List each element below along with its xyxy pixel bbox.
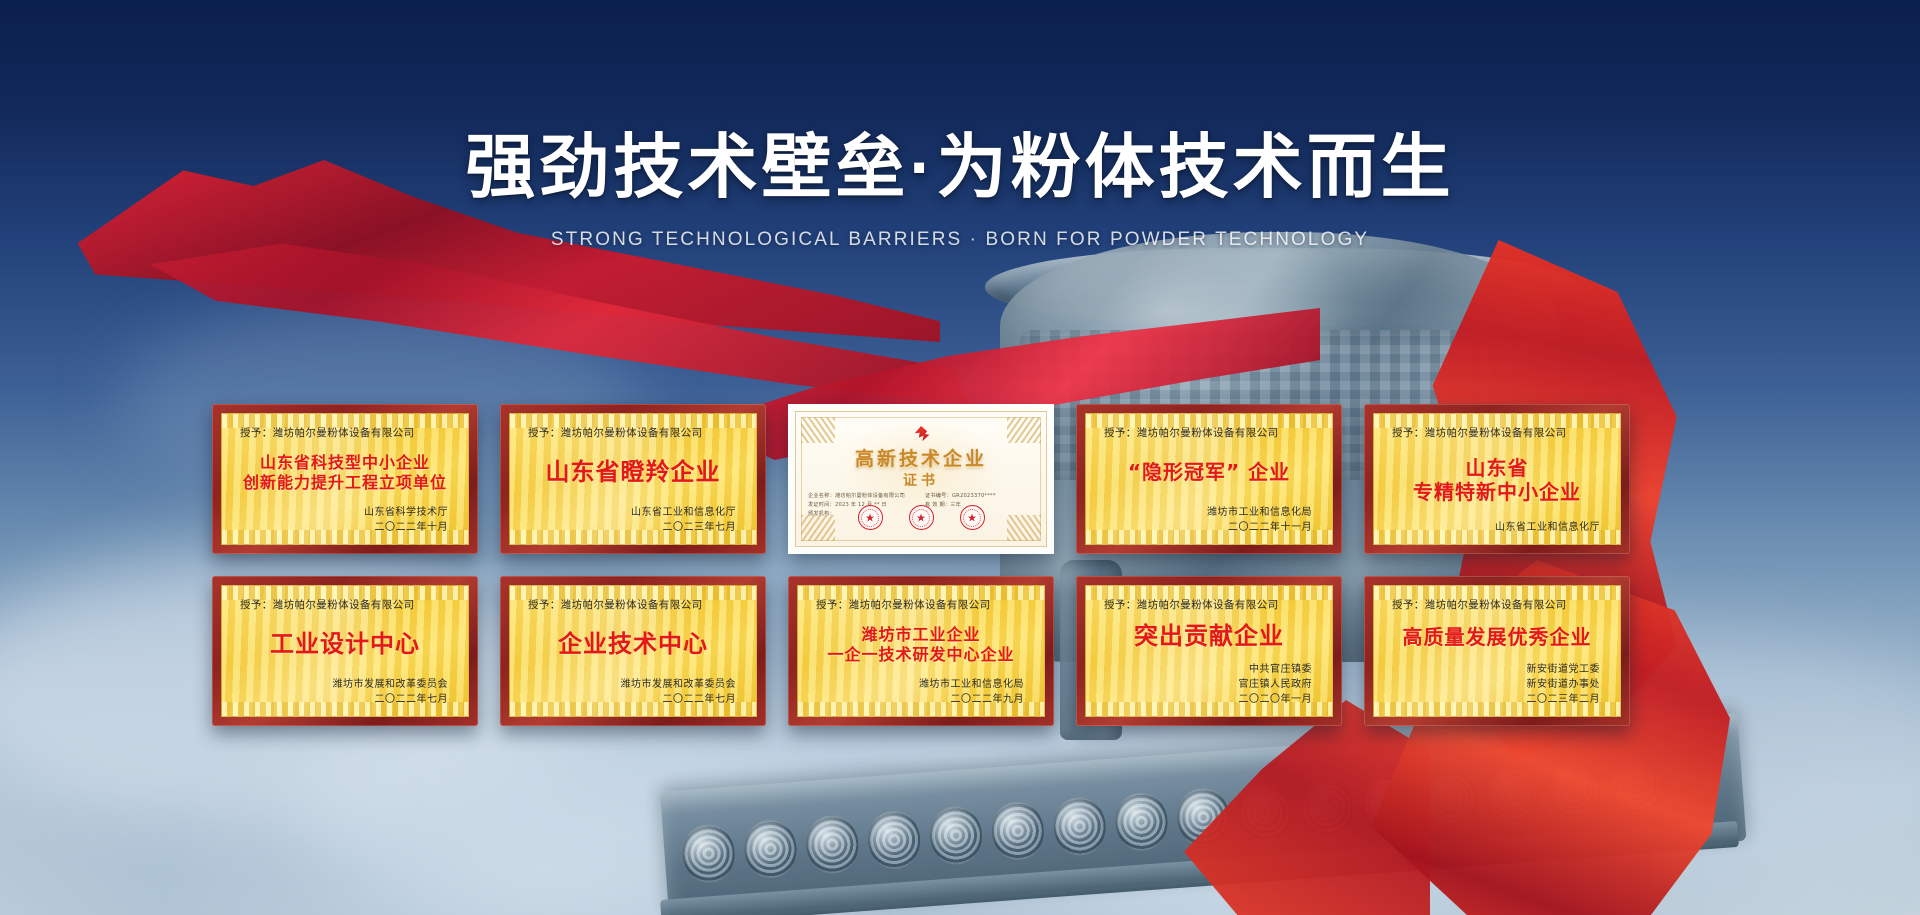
- wheat-corner-icon: [801, 417, 835, 443]
- certificate-seals: [796, 505, 1046, 530]
- award-granted-to: 授予：潍坊帕尔曼粉体设备有限公司: [812, 597, 1030, 612]
- award-granted-to: 授予：潍坊帕尔曼粉体设备有限公司: [524, 425, 742, 440]
- award-footer: 山东省科学技术厅 二〇二二年十月: [236, 505, 454, 535]
- award-footer: 潍坊市发展和改革委员会 二〇二二年七月: [236, 677, 454, 707]
- bronze-ding-rim: [985, 248, 1577, 326]
- award-title: 高质量发展优秀企业: [1388, 612, 1606, 662]
- award-date: 二〇二二年九月: [812, 692, 1024, 707]
- awards-grid: 授予：潍坊帕尔曼粉体设备有限公司 山东省科技型中小企业 创新能力提升工程立项单位…: [212, 404, 1712, 726]
- award-title-line: 潍坊市工业企业: [861, 625, 980, 645]
- award-plaque-9[interactable]: 授予：潍坊帕尔曼粉体设备有限公司 高质量发展优秀企业 新安街道党工委 新安街道办…: [1364, 576, 1630, 726]
- award-issuer: 潍坊市发展和改革委员会: [236, 677, 448, 692]
- award-issuer-secondary: 新安街道办事处: [1388, 677, 1600, 692]
- award-title: 企业技术中心: [524, 612, 742, 677]
- award-issuer-secondary: 官庄镇人民政府: [1100, 677, 1312, 692]
- award-plaque-8[interactable]: 授予：潍坊帕尔曼粉体设备有限公司 突出贡献企业 中共官庄镇委 官庄镇人民政府 二…: [1076, 576, 1342, 726]
- award-title-line: 山东省科技型中小企业: [260, 453, 430, 473]
- medallion-row: [680, 748, 1722, 886]
- award-granted-to: 授予：潍坊帕尔曼粉体设备有限公司: [1100, 425, 1318, 440]
- cloud-decoration: [900, 720, 1600, 915]
- red-seal-icon: [909, 505, 934, 530]
- award-issuer: 新安街道党工委: [1388, 662, 1600, 677]
- award-title-line: 专精特新中小企业: [1413, 480, 1581, 504]
- award-issuer: 山东省工业和信息化厅: [524, 505, 736, 520]
- medallion-icon: [1608, 755, 1664, 817]
- award-title: 工业设计中心: [236, 612, 454, 677]
- plaque-face: 授予：潍坊帕尔曼粉体设备有限公司 “隐形冠军” 企业 潍坊市工业和信息化局 二〇…: [1085, 413, 1333, 545]
- award-slot: 授予：潍坊帕尔曼粉体设备有限公司 山东省 专精特新中小企业 山东省工业和信息化厅: [1364, 404, 1630, 554]
- certificate-field: 证书编号：GR2023370****: [925, 492, 1034, 499]
- award-plaque-7[interactable]: 授予：潍坊帕尔曼粉体设备有限公司 潍坊市工业企业 一企一技术研发中心企业 潍坊市…: [788, 576, 1054, 726]
- award-date: 二〇二二年七月: [524, 692, 736, 707]
- award-title-line: “隐形冠军” 企业: [1128, 460, 1290, 484]
- plaque-face: 授予：潍坊帕尔曼粉体设备有限公司 工业设计中心 潍坊市发展和改革委员会 二〇二二…: [221, 585, 469, 717]
- award-granted-to: 授予：潍坊帕尔曼粉体设备有限公司: [1388, 425, 1606, 440]
- award-slot: 授予：潍坊帕尔曼粉体设备有限公司 突出贡献企业 中共官庄镇委 官庄镇人民政府 二…: [1076, 576, 1342, 726]
- page-title: 强劲技术壁垒·为粉体技术而生: [0, 126, 1920, 209]
- medallion-icon: [1237, 782, 1293, 844]
- award-footer: 潍坊市工业和信息化局 二〇二二年九月: [812, 677, 1030, 707]
- bronze-ding-base-lip: [660, 821, 1739, 915]
- award-granted-to: 授予：潍坊帕尔曼粉体设备有限公司: [236, 425, 454, 440]
- award-plaque-1[interactable]: 授予：潍坊帕尔曼粉体设备有限公司 山东省科技型中小企业 创新能力提升工程立项单位…: [212, 404, 478, 554]
- award-footer: 山东省工业和信息化厅 二〇二三年七月: [524, 505, 742, 535]
- award-granted-to: 授予：潍坊帕尔曼粉体设备有限公司: [1100, 597, 1318, 612]
- award-title-line: 企业技术中心: [558, 630, 708, 659]
- headline-block: 强劲技术壁垒·为粉体技术而生 STRONG TECHNOLOGICAL BARR…: [0, 126, 1920, 251]
- award-footer: 潍坊市工业和信息化局 二〇二二年十一月: [1100, 505, 1318, 535]
- award-title: 山东省科技型中小企业 创新能力提升工程立项单位: [236, 440, 454, 505]
- award-issuer: 潍坊市发展和改革委员会: [524, 677, 736, 692]
- award-footer: 山东省工业和信息化厅: [1388, 520, 1606, 535]
- award-date: 二〇二二年十一月: [1100, 520, 1312, 535]
- medallion-icon: [866, 809, 922, 871]
- award-title: 山东省 专精特新中小企业: [1388, 440, 1606, 520]
- award-title-line: 创新能力提升工程立项单位: [243, 473, 447, 493]
- award-plaque-6[interactable]: 授予：潍坊帕尔曼粉体设备有限公司 企业技术中心 潍坊市发展和改革委员会 二〇二二…: [500, 576, 766, 726]
- award-plaque-2[interactable]: 授予：潍坊帕尔曼粉体设备有限公司 山东省瞪羚企业 山东省工业和信息化厅 二〇二三…: [500, 404, 766, 554]
- high-tech-enterprise-certificate[interactable]: 高新技术企业 证书 企业名称：潍坊帕尔曼粉体设备有限公司 证书编号：GR2023…: [788, 404, 1054, 554]
- medallion-icon: [1113, 791, 1169, 853]
- award-slot: 授予：潍坊帕尔曼粉体设备有限公司 企业技术中心 潍坊市发展和改革委员会 二〇二二…: [500, 576, 766, 726]
- plaque-face: 授予：潍坊帕尔曼粉体设备有限公司 山东省瞪羚企业 山东省工业和信息化厅 二〇二三…: [509, 413, 757, 545]
- award-slot: 高新技术企业 证书 企业名称：潍坊帕尔曼粉体设备有限公司 证书编号：GR2023…: [788, 404, 1054, 554]
- award-footer: 中共官庄镇委 官庄镇人民政府 二〇二〇年一月: [1100, 662, 1318, 707]
- award-title-line: 突出贡献企业: [1134, 622, 1284, 651]
- award-granted-to: 授予：潍坊帕尔曼粉体设备有限公司: [236, 597, 454, 612]
- medallion-icon: [804, 814, 860, 876]
- wheat-corner-icon: [1007, 417, 1041, 443]
- award-issuer: 山东省科学技术厅: [236, 505, 448, 520]
- award-date: 二〇二三年七月: [524, 520, 736, 535]
- red-seal-icon: [858, 505, 883, 530]
- medallion-icon: [1052, 796, 1108, 858]
- bronze-ding-handle: [1470, 740, 1660, 850]
- award-slot: 授予：潍坊帕尔曼粉体设备有限公司 “隐形冠军” 企业 潍坊市工业和信息化局 二〇…: [1076, 404, 1342, 554]
- award-title: 潍坊市工业企业 一企一技术研发中心企业: [812, 612, 1030, 677]
- plaque-face: 授予：潍坊帕尔曼粉体设备有限公司 山东省科技型中小企业 创新能力提升工程立项单位…: [221, 413, 469, 545]
- award-issuer: 山东省工业和信息化厅: [1388, 520, 1600, 535]
- medallion-icon: [681, 823, 737, 885]
- award-issuer: 潍坊市工业和信息化局: [812, 677, 1024, 692]
- bronze-ding-base: [660, 713, 1746, 915]
- award-date: 二〇二〇年一月: [1100, 692, 1312, 707]
- award-date: 二〇二二年七月: [236, 692, 448, 707]
- award-plaque-5[interactable]: 授予：潍坊帕尔曼粉体设备有限公司 工业设计中心 潍坊市发展和改革委员会 二〇二二…: [212, 576, 478, 726]
- red-ribbon-tail: [1130, 700, 1430, 915]
- page-subtitle: STRONG TECHNOLOGICAL BARRIERS · BORN FOR…: [0, 229, 1920, 251]
- honors-banner: 强劲技术壁垒·为粉体技术而生 STRONG TECHNOLOGICAL BARR…: [0, 0, 1920, 915]
- award-issuer: 潍坊市工业和信息化局: [1100, 505, 1312, 520]
- award-slot: 授予：潍坊帕尔曼粉体设备有限公司 潍坊市工业企业 一企一技术研发中心企业 潍坊市…: [788, 576, 1054, 726]
- award-plaque-4[interactable]: 授予：潍坊帕尔曼粉体设备有限公司 山东省 专精特新中小企业 山东省工业和信息化厅: [1364, 404, 1630, 554]
- certificate-title: 高新技术企业: [796, 444, 1046, 471]
- medallion-icon: [990, 800, 1046, 862]
- award-granted-to: 授予：潍坊帕尔曼粉体设备有限公司: [1388, 597, 1606, 612]
- award-plaque-3[interactable]: 授予：潍坊帕尔曼粉体设备有限公司 “隐形冠军” 企业 潍坊市工业和信息化局 二〇…: [1076, 404, 1342, 554]
- award-footer: 潍坊市发展和改革委员会 二〇二二年七月: [524, 677, 742, 707]
- certificate-face: 高新技术企业 证书 企业名称：潍坊帕尔曼粉体设备有限公司 证书编号：GR2023…: [795, 411, 1047, 547]
- award-title-line: 工业设计中心: [270, 630, 420, 659]
- medallion-icon: [1175, 786, 1231, 848]
- medallion-icon: [742, 818, 798, 880]
- award-title: 突出贡献企业: [1100, 612, 1318, 662]
- award-slot: 授予：潍坊帕尔曼粉体设备有限公司 高质量发展优秀企业 新安街道党工委 新安街道办…: [1364, 576, 1630, 726]
- medallion-icon: [928, 805, 984, 867]
- award-title-line: 山东省瞪羚企业: [546, 458, 721, 487]
- award-granted-to: 授予：潍坊帕尔曼粉体设备有限公司: [524, 597, 742, 612]
- award-slot: 授予：潍坊帕尔曼粉体设备有限公司 山东省瞪羚企业 山东省工业和信息化厅 二〇二三…: [500, 404, 766, 554]
- award-footer: 新安街道党工委 新安街道办事处 二〇二三年二月: [1388, 662, 1606, 707]
- plaque-face: 授予：潍坊帕尔曼粉体设备有限公司 企业技术中心 潍坊市发展和改革委员会 二〇二二…: [509, 585, 757, 717]
- flame-emblem-icon: [910, 426, 932, 446]
- certificate-subtitle: 证书: [796, 470, 1046, 490]
- award-title-line: 山东省: [1466, 456, 1529, 480]
- award-date: 二〇二三年二月: [1388, 692, 1600, 707]
- award-title-line: 一企一技术研发中心企业: [827, 645, 1014, 665]
- medallion-icon: [1299, 777, 1355, 839]
- certificate-field: 企业名称：潍坊帕尔曼粉体设备有限公司: [808, 492, 917, 499]
- award-title: 山东省瞪羚企业: [524, 440, 742, 505]
- red-seal-icon: [960, 505, 985, 530]
- award-title-line: 高质量发展优秀企业: [1403, 625, 1592, 649]
- plaque-face: 授予：潍坊帕尔曼粉体设备有限公司 山东省 专精特新中小企业 山东省工业和信息化厅: [1373, 413, 1621, 545]
- plaque-face: 授予：潍坊帕尔曼粉体设备有限公司 高质量发展优秀企业 新安街道党工委 新安街道办…: [1373, 585, 1621, 717]
- medallion-icon: [1423, 768, 1479, 830]
- award-date: 二〇二二年十月: [236, 520, 448, 535]
- medallion-icon: [1546, 759, 1602, 821]
- award-slot: 授予：潍坊帕尔曼粉体设备有限公司 工业设计中心 潍坊市发展和改革委员会 二〇二二…: [212, 576, 478, 726]
- award-title: “隐形冠军” 企业: [1100, 440, 1318, 505]
- medallion-icon: [1484, 764, 1540, 826]
- plaque-face: 授予：潍坊帕尔曼粉体设备有限公司 潍坊市工业企业 一企一技术研发中心企业 潍坊市…: [797, 585, 1045, 717]
- medallion-icon: [1361, 773, 1417, 835]
- award-issuer: 中共官庄镇委: [1100, 662, 1312, 677]
- award-slot: 授予：潍坊帕尔曼粉体设备有限公司 山东省科技型中小企业 创新能力提升工程立项单位…: [212, 404, 478, 554]
- plaque-face: 授予：潍坊帕尔曼粉体设备有限公司 突出贡献企业 中共官庄镇委 官庄镇人民政府 二…: [1085, 585, 1333, 717]
